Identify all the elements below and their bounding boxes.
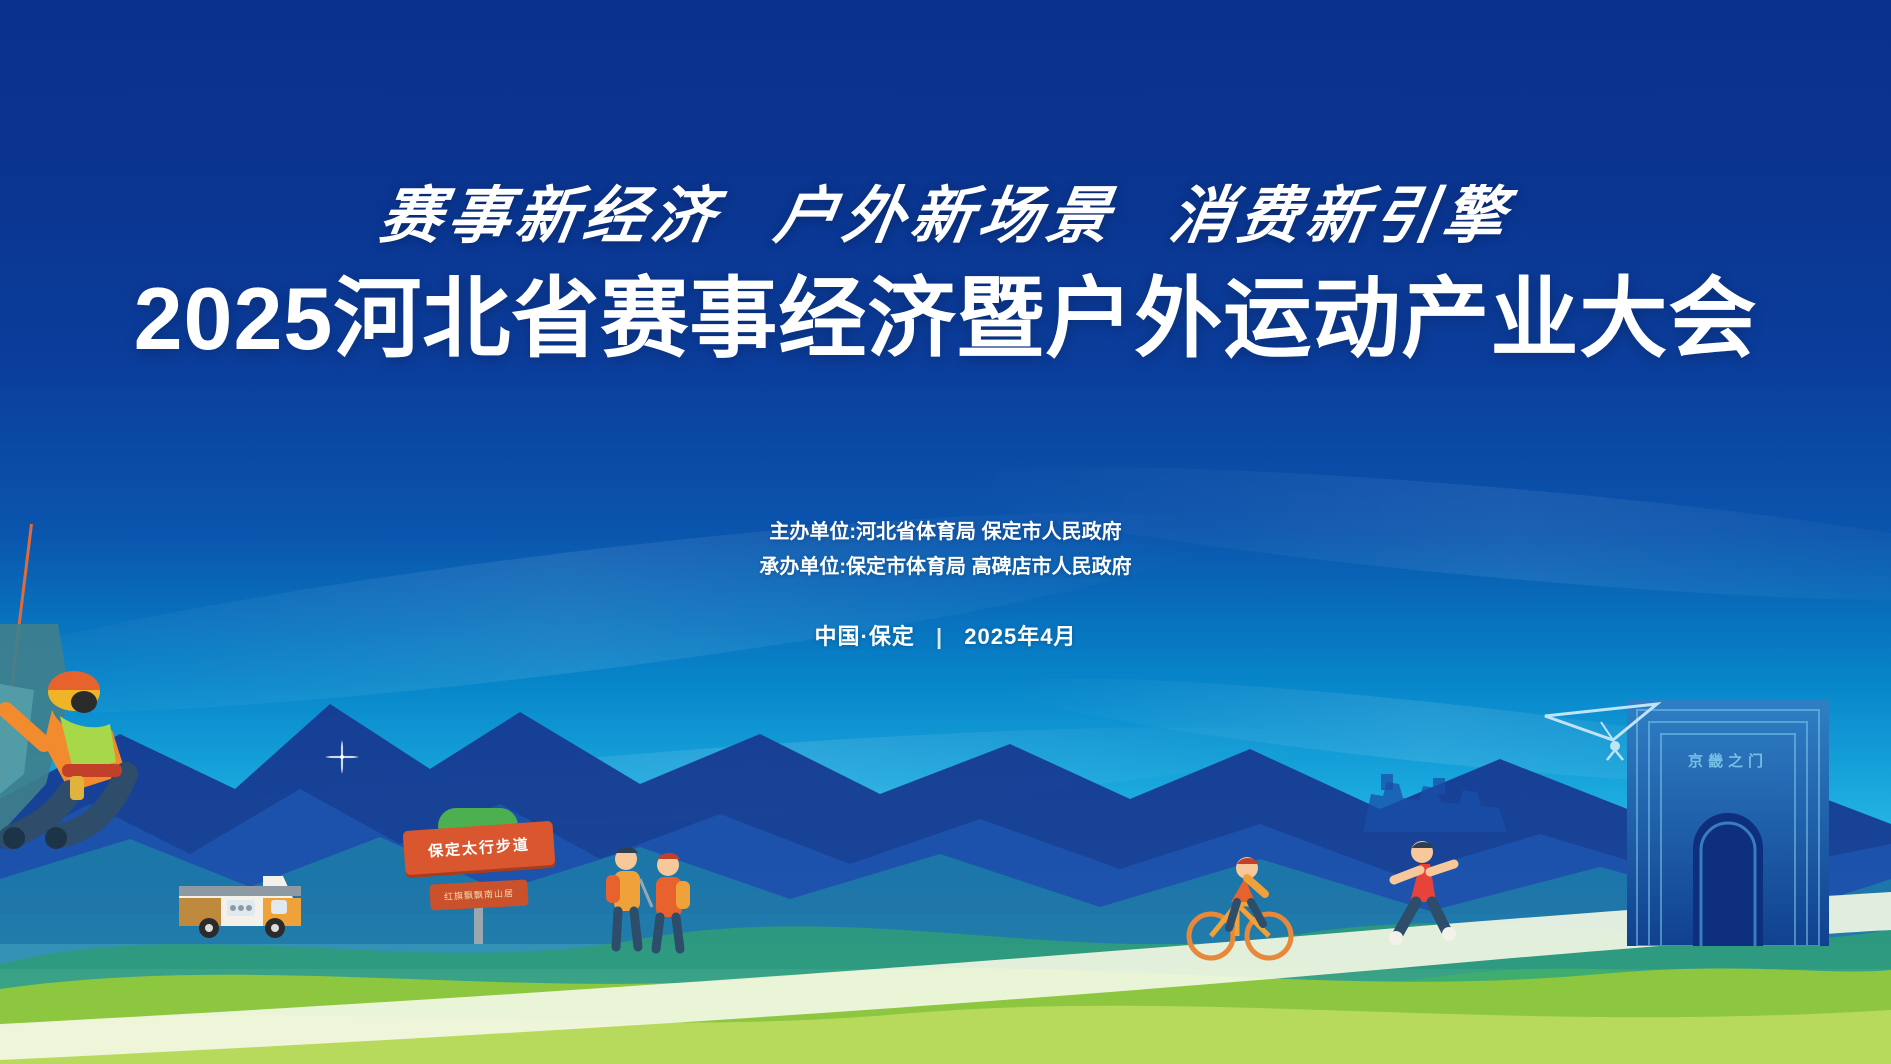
organizer-block: 主办单位:河北省体育局 保定市人民政府 承办单位:保定市体育局 高碑店市人民政府 bbox=[0, 515, 1891, 585]
poster-text-block: 赛事新经济 户外新场景 消费新引擎 2025河北省赛事经济暨户外运动产业大会 主… bbox=[0, 0, 1891, 651]
sign-post bbox=[474, 904, 483, 944]
sparkle-star-icon bbox=[325, 740, 359, 774]
trail-sign-main-board: 保定太行步道 bbox=[403, 821, 556, 875]
coorganizer-line: 承办单位:保定市体育局 高碑店市人民政府 bbox=[0, 550, 1891, 585]
cyclist-icon bbox=[1185, 844, 1295, 964]
poster-title: 2025河北省赛事经济暨户外运动产业大会 bbox=[0, 273, 1891, 365]
trail-sign-sub-board: 红旗飘飘南山居 bbox=[429, 879, 528, 910]
great-wall-icon bbox=[1361, 764, 1511, 834]
poster-tagline: 赛事新经济 户外新场景 消费新引擎 bbox=[0, 185, 1891, 247]
trail-sign-main-text: 保定太行步道 bbox=[403, 821, 556, 875]
dateline-separator: | bbox=[922, 624, 957, 650]
hang-glider-icon bbox=[1541, 700, 1661, 770]
trail-sign-sub-text: 红旗飘飘南山居 bbox=[429, 879, 528, 910]
camper-van-icon bbox=[175, 864, 305, 944]
event-date: 2025年4月 bbox=[964, 624, 1076, 649]
trail-sign-icon: 保定太行步道 红旗飘飘南山居 bbox=[404, 804, 554, 939]
dateline: 中国·保定 | 2025年4月 bbox=[0, 619, 1891, 651]
runner-icon bbox=[1370, 834, 1470, 954]
rock-climber-icon bbox=[0, 624, 150, 884]
hikers-icon bbox=[600, 839, 710, 959]
host-organizer-line: 主办单位:河北省体育局 保定市人民政府 bbox=[0, 515, 1891, 550]
event-poster: 赛事新经济 户外新场景 消费新引擎 2025河北省赛事经济暨户外运动产业大会 主… bbox=[0, 0, 1891, 1064]
event-location: 中国·保定 bbox=[815, 624, 915, 649]
